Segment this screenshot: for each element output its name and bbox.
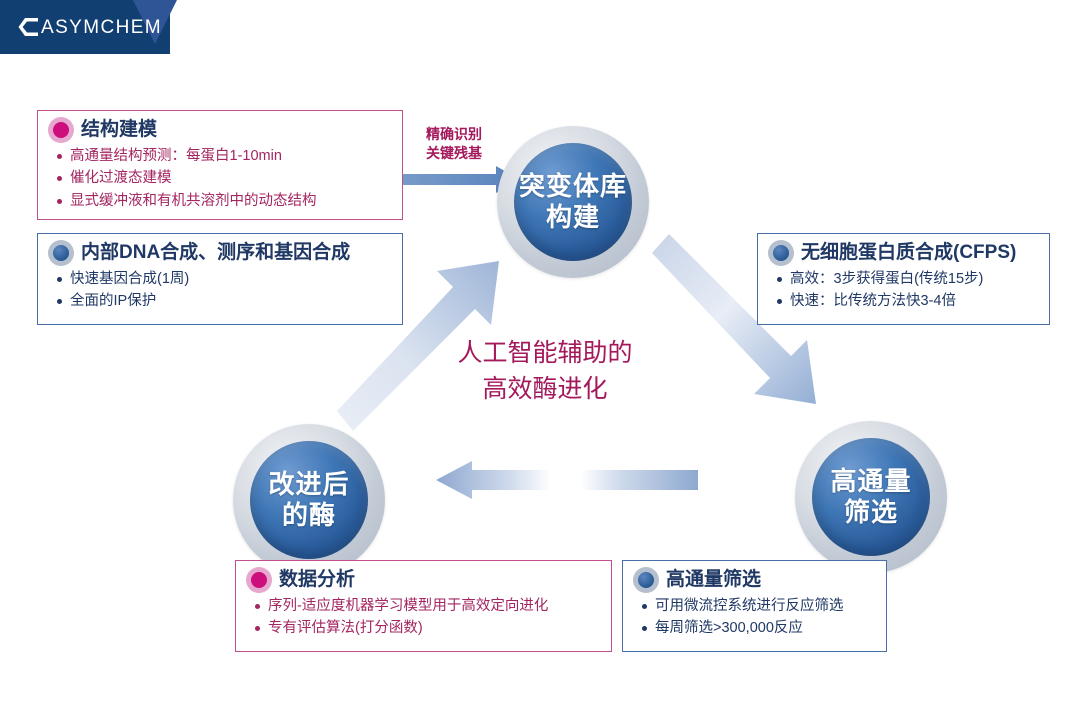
pink-dot-marker-icon	[246, 567, 272, 593]
infobox-data-analysis[interactable]: 数据分析 序列-适应度机器学习模型用于高效定向进化 专有评估算法(打分函数)	[235, 560, 612, 652]
node-improved-enzyme-label: 改进后 的酶	[268, 469, 349, 530]
infobox-structure-modeling-bullets: 高通量结构预测：每蛋白1-10min 催化过渡态建模 显式缓冲液和有机共溶剂中的…	[48, 145, 392, 212]
infobox-high-throughput-screening-header: 高通量筛选	[633, 567, 876, 593]
infobox-dna-synthesis-bullets: 快速基因合成(1周) 全面的IP保护	[48, 268, 392, 313]
bullet-item: 全面的IP保护	[70, 290, 392, 312]
bullet-item: 快速：比传统方法快3-4倍	[790, 290, 1039, 312]
infobox-cell-free-protein-synthesis-header: 无细胞蛋白质合成(CFPS)	[768, 240, 1039, 266]
node-high-throughput-screening-core: 高通量 筛选	[812, 438, 930, 556]
asymchem-logo: ASYMCHEM	[16, 13, 162, 41]
node-mutant-library-label: 突变体库 构建	[519, 171, 627, 232]
bullet-item: 高通量结构预测：每蛋白1-10min	[70, 145, 392, 167]
bullet-item: 专有评估算法(打分函数)	[268, 617, 601, 639]
infobox-data-analysis-bullets: 序列-适应度机器学习模型用于高效定向进化 专有评估算法(打分函数)	[246, 595, 601, 640]
node-mutant-library[interactable]: 突变体库 构建	[497, 126, 649, 278]
bullet-item: 催化过渡态建模	[70, 167, 392, 189]
arrow-annotation-text: 精确识别 关键残基	[395, 125, 513, 163]
infobox-data-analysis-title: 数据分析	[279, 569, 355, 591]
arrow-bottom-left	[420, 460, 700, 500]
blue-dot-marker-icon	[48, 240, 74, 266]
infobox-structure-modeling-title: 结构建模	[81, 119, 157, 141]
blue-dot-marker-icon	[768, 240, 794, 266]
pink-dot-marker-icon	[48, 117, 74, 143]
hexagon-c-logo-icon	[16, 13, 42, 41]
infobox-data-analysis-header: 数据分析	[246, 567, 601, 593]
infobox-high-throughput-screening[interactable]: 高通量筛选 可用微流控系统进行反应筛选 每周筛选>300,000反应	[622, 560, 887, 652]
infobox-cell-free-protein-synthesis-bullets: 高效：3步获得蛋白(传统15步) 快速：比传统方法快3-4倍	[768, 268, 1039, 313]
bullet-item: 快速基因合成(1周)	[70, 268, 392, 290]
center-caption: 人工智能辅助的 高效酶进化	[420, 335, 670, 408]
node-high-throughput-screening-label: 高通量 筛选	[830, 466, 911, 527]
infobox-cell-free-protein-synthesis[interactable]: 无细胞蛋白质合成(CFPS) 高效：3步获得蛋白(传统15步) 快速：比传统方法…	[757, 233, 1050, 325]
infobox-dna-synthesis-title: 内部DNA合成、测序和基因合成	[81, 242, 350, 264]
infobox-high-throughput-screening-bullets: 可用微流控系统进行反应筛选 每周筛选>300,000反应	[633, 595, 876, 640]
node-mutant-library-core: 突变体库 构建	[514, 143, 632, 261]
slide-canvas: ASYMCHEM	[0, 0, 1080, 707]
bullet-item: 每周筛选>300,000反应	[655, 617, 876, 639]
bullet-item: 显式缓冲液和有机共溶剂中的动态结构	[70, 190, 392, 212]
bullet-item: 序列-适应度机器学习模型用于高效定向进化	[268, 595, 601, 617]
bullet-item: 高效：3步获得蛋白(传统15步)	[790, 268, 1039, 290]
infobox-cell-free-protein-synthesis-title: 无细胞蛋白质合成(CFPS)	[801, 242, 1016, 264]
bullet-item: 可用微流控系统进行反应筛选	[655, 595, 876, 617]
infobox-structure-modeling[interactable]: 结构建模 高通量结构预测：每蛋白1-10min 催化过渡态建模 显式缓冲液和有机…	[37, 110, 403, 220]
blue-dot-marker-icon	[633, 567, 659, 593]
infobox-structure-modeling-header: 结构建模	[48, 117, 392, 143]
node-high-throughput-screening[interactable]: 高通量 筛选	[795, 421, 947, 573]
logo-text: ASYMCHEM	[41, 18, 162, 37]
infobox-dna-synthesis-header: 内部DNA合成、测序和基因合成	[48, 240, 392, 266]
infobox-high-throughput-screening-title: 高通量筛选	[666, 569, 761, 591]
node-improved-enzyme[interactable]: 改进后 的酶	[233, 424, 385, 576]
header-banner: ASYMCHEM	[0, 0, 1080, 54]
node-improved-enzyme-core: 改进后 的酶	[250, 441, 368, 559]
infobox-dna-synthesis[interactable]: 内部DNA合成、测序和基因合成 快速基因合成(1周) 全面的IP保护	[37, 233, 403, 325]
